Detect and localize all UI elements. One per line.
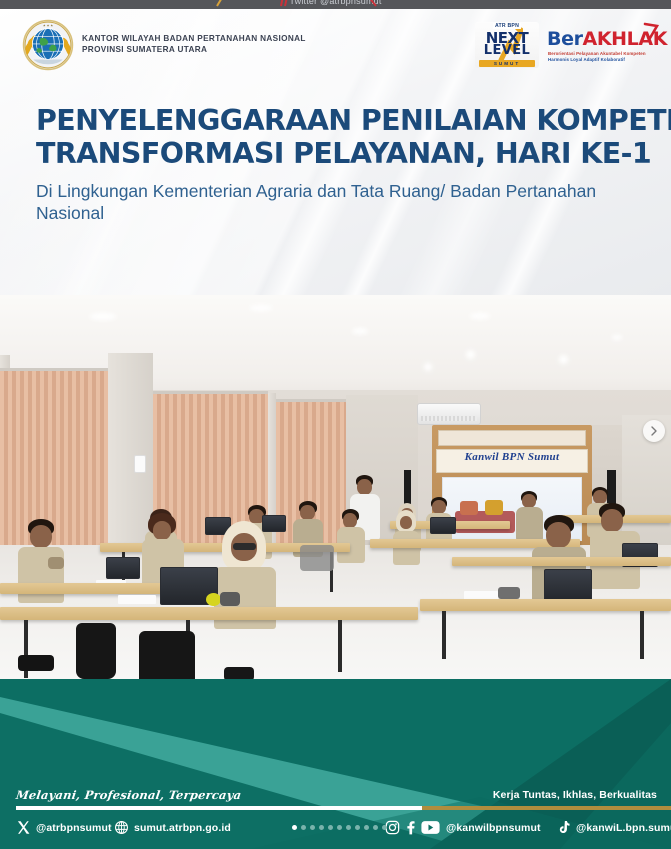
chevron-right-icon <box>649 426 659 436</box>
divider-white-segment <box>16 806 422 810</box>
decorative-mark-mid <box>277 0 291 8</box>
instagram-handle: @kanwilbpnsumut <box>446 822 541 834</box>
divider-gold-segment <box>422 806 671 810</box>
slide-header: ★ ★ ★ KANTOR WILAYAH BADAN PERTANAHAN NA… <box>0 9 671 295</box>
facebook-icon <box>403 820 418 835</box>
social-links-row: @atrbpnsumut sumut.atrbpn.go.id <box>0 815 671 843</box>
social-x-twitter[interactable]: @atrbpnsumut <box>16 820 112 835</box>
previous-slide-sliver: Twitter @atrbpnsumut <box>0 0 671 9</box>
sign-header-strip <box>438 430 586 446</box>
decorative-mark-left <box>215 0 229 8</box>
instagram-carousel-slide: Twitter @atrbpnsumut <box>0 0 671 849</box>
instagram-icon <box>385 820 400 835</box>
org-name: KANTOR WILAYAH BADAN PERTANAHAN NASIONAL… <box>82 33 306 55</box>
yellow-object <box>206 593 221 606</box>
org-name-line2: PROVINSI SUMATERA UTARA <box>82 44 306 55</box>
footer-divider <box>16 806 671 810</box>
svg-text:★ ★ ★: ★ ★ ★ <box>43 23 54 27</box>
berakhlak-logo: BerAKHLAK Berorientasi Pelayanan Akuntab… <box>547 22 657 68</box>
carousel-dot[interactable] <box>319 825 324 830</box>
laptop-mid-2 <box>262 515 286 532</box>
carousel-dots[interactable] <box>292 825 387 830</box>
carousel-dot[interactable] <box>337 825 342 830</box>
laptop-front-left <box>106 557 140 579</box>
wall-pillar-2 <box>108 353 153 553</box>
air-conditioner <box>417 403 481 425</box>
chair-back <box>300 545 334 571</box>
tiktok-handle: @kanwiL.bpn.sumut <box>576 822 671 834</box>
social-meta-group[interactable]: @kanwilbpnsumut <box>385 820 541 835</box>
berakhlak-prefix: Ber <box>547 28 583 50</box>
berakhlak-values-line1: Berorientasi Pelayanan Akuntabel Kompete… <box>548 51 646 57</box>
carousel-dot[interactable] <box>346 825 351 830</box>
partner-logos: ATR BPN NEXT LEVEL SUMUT BerAKHLAK Beror… <box>475 19 657 71</box>
carousel-dot[interactable] <box>328 825 333 830</box>
desk-right-back <box>452 557 671 566</box>
desk-leg <box>338 620 342 672</box>
window-blind-1 <box>0 368 108 561</box>
slide-title-line1: PENYELENGGARAAN PENILAIAN KOMPETENSI <box>36 104 644 137</box>
org-name-line1: KANTOR WILAYAH BADAN PERTANAHAN NASIONAL <box>82 33 306 44</box>
tiktok-icon <box>556 820 571 835</box>
desk-front-right <box>420 599 671 611</box>
title-block: PENYELENGGARAAN PENILAIAN KOMPETENSI TRA… <box>36 104 644 224</box>
room-sign-text: Kanwil BPN Sumut <box>432 451 592 463</box>
bpn-logo-icon: ★ ★ ★ <box>22 19 74 71</box>
backpack-1 <box>76 623 116 679</box>
paper-center <box>118 595 156 604</box>
phone-right <box>498 587 520 599</box>
carousel-dot[interactable] <box>373 825 378 830</box>
cushion-2 <box>485 500 503 515</box>
carousel-dot[interactable] <box>355 825 360 830</box>
laptop-mid-3 <box>430 517 456 534</box>
berakhlak-values: Berorientasi Pelayanan Akuntabel Kompete… <box>548 51 646 62</box>
footer-tagline-left: Melayani, Profesional, Terpercaya <box>15 788 242 802</box>
wall-switch <box>134 455 146 473</box>
slide-title-line2: TRANSFORMASI PELAYANAN, HARI KE-1 <box>36 137 644 170</box>
shoe-left <box>18 655 54 671</box>
carousel-dot[interactable] <box>292 825 297 830</box>
next-level-line2: LEVEL <box>484 43 530 58</box>
desk-front-center <box>0 607 418 620</box>
cushion-1 <box>460 501 478 515</box>
youtube-icon <box>421 820 440 835</box>
next-level-bottomlabel: SUMUT <box>479 60 535 67</box>
social-tiktok[interactable]: @kanwiL.bpn.sumut <box>556 820 671 835</box>
swoosh-icon <box>643 22 659 40</box>
decorative-mark-right <box>365 0 379 8</box>
carousel-dot[interactable] <box>364 825 369 830</box>
slide-footer: Melayani, Profesional, Terpercaya Kerja … <box>0 679 671 849</box>
carousel-dot[interactable] <box>310 825 315 830</box>
berakhlak-values-line2: Harmonis Loyal Adaptif Kolaboratif <box>548 57 646 63</box>
desk-leg <box>442 611 446 659</box>
carousel-dot[interactable] <box>382 825 387 830</box>
footer-tagline-right: Kerja Tuntas, Ikhlas, Berkualitas <box>493 789 657 801</box>
x-twitter-icon <box>16 820 31 835</box>
globe-icon <box>114 820 129 835</box>
desk-leg <box>640 611 644 659</box>
slide-subtitle: Di Lingkungan Kementerian Agraria dan Ta… <box>36 180 626 225</box>
x-twitter-handle: @atrbpnsumut <box>36 822 112 834</box>
next-level-logo: ATR BPN NEXT LEVEL SUMUT <box>475 22 539 68</box>
social-website[interactable]: sumut.atrbpn.go.id <box>114 820 231 835</box>
laptop-front-right <box>544 569 592 603</box>
carousel-dot[interactable] <box>301 825 306 830</box>
carousel-next-button[interactable] <box>643 420 665 442</box>
event-photo: Kanwil BPN Sumut <box>0 295 671 720</box>
pouch <box>220 592 240 606</box>
website-url: sumut.atrbpn.go.id <box>134 822 231 834</box>
logo-row: ★ ★ ★ KANTOR WILAYAH BADAN PERTANAHAN NA… <box>0 13 671 73</box>
